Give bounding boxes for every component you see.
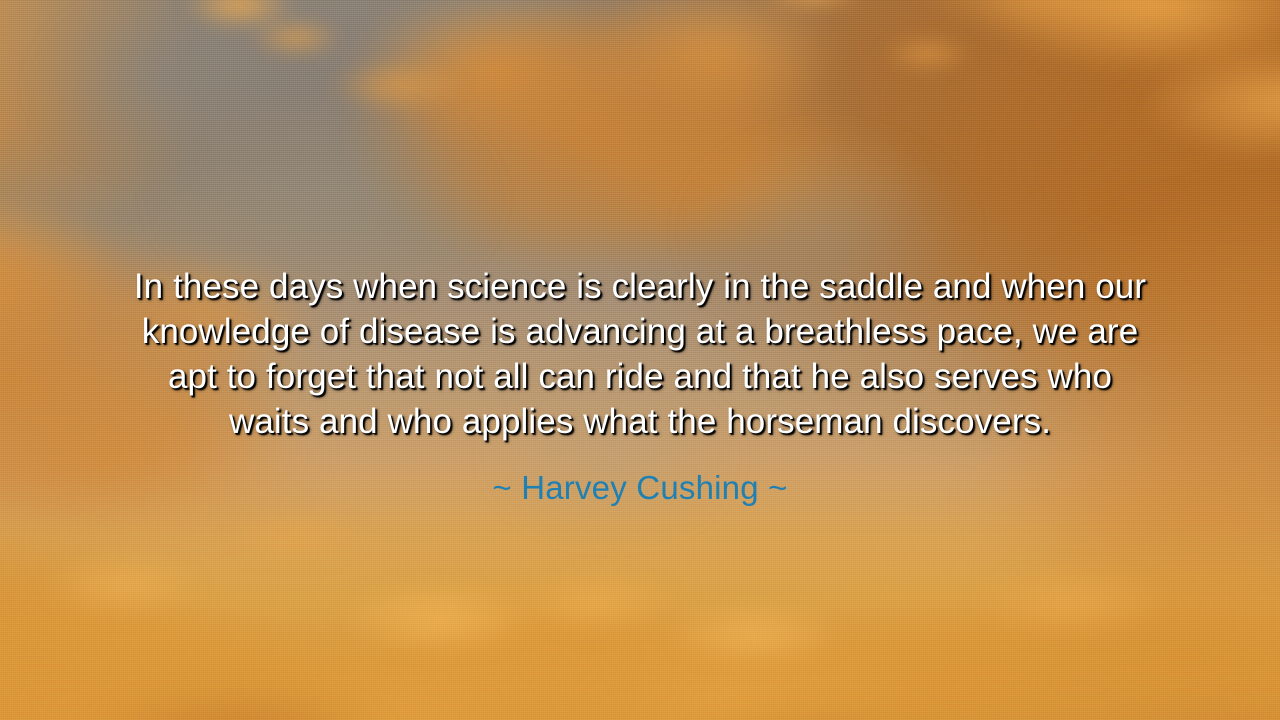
- quote-line-2: knowledge of disease is advancing at a b…: [44, 309, 1236, 354]
- quote-attribution: ~ Harvey Cushing ~: [44, 444, 1236, 508]
- quote-line-3: apt to forget that not all can ride and …: [44, 354, 1236, 399]
- quote-card: In these days when science is clearly in…: [0, 0, 1280, 720]
- quote-line-1: In these days when science is clearly in…: [44, 264, 1236, 309]
- quote-block: In these days when science is clearly in…: [0, 264, 1280, 508]
- quote-line-4: waits and who applies what the horseman …: [44, 399, 1236, 444]
